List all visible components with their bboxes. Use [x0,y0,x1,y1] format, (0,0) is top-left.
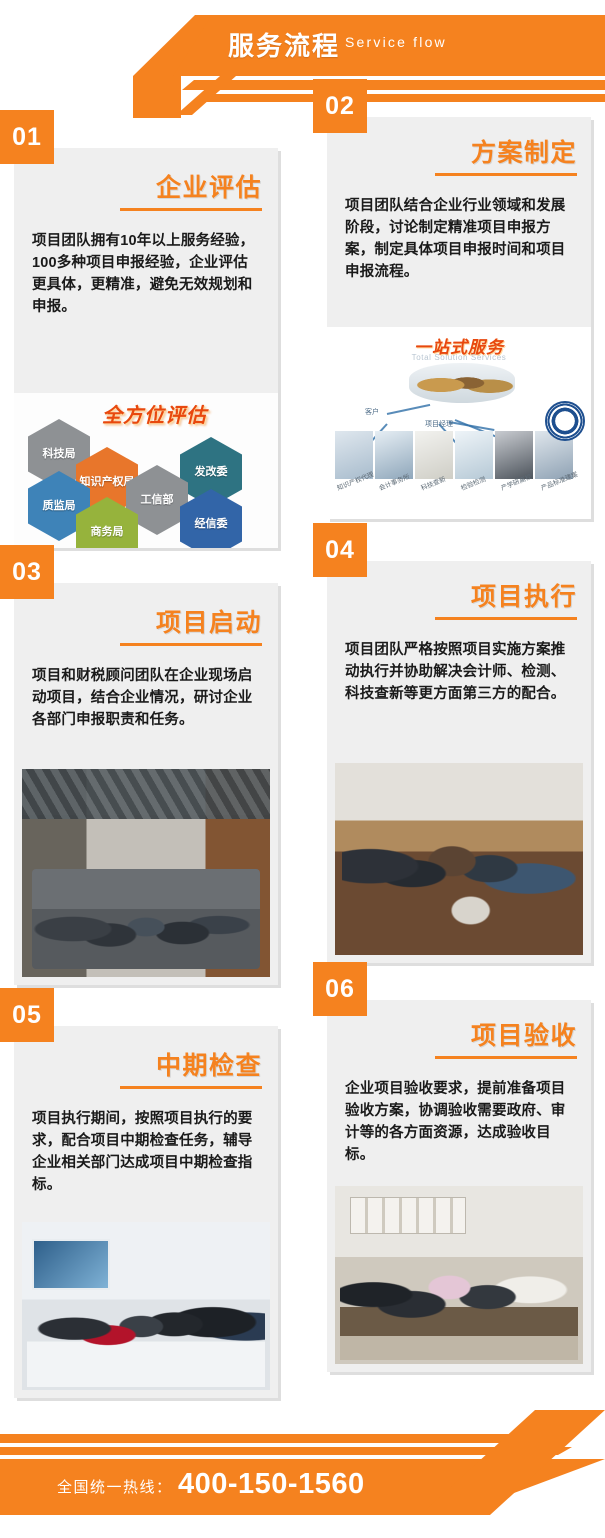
header-stripe-upper [182,80,605,90]
step-number-badge: 03 [0,545,54,599]
step-description: 项目执行期间，按照项目执行的要求，配合项目中期检查任务，辅导企业相关部门达成项目… [32,1108,260,1196]
title-underline [435,173,577,176]
diagram-tile [455,431,493,479]
header-stripe-lower [196,94,605,102]
step-photo [22,1222,270,1390]
step-title: 项目执行 [471,577,577,613]
page-footer: 全国统一热线： 400-150-1560 [0,1418,605,1538]
step-card-03[interactable]: 03 项目启动 项目和财税顾问团队在企业现场启动项目，结合企业情况，研讨企业各部… [14,583,278,985]
step-description: 企业项目验收要求，提前准备项目验收方案，协调验收需要政府、审计等的各方面资源，达… [345,1078,577,1166]
diagram-tile [415,431,453,479]
step-title: 项目启动 [156,603,262,639]
step-number-badge: 06 [313,962,367,1016]
title-underline [435,617,577,620]
step-card-01[interactable]: 01 企业评估 项目团队拥有10年以上服务经验，100多种项目申报经验，企业评估… [14,148,278,548]
step-title: 项目验收 [471,1016,577,1052]
iso-seal-icon [545,401,585,441]
title-underline [120,1086,262,1089]
title-underline [120,208,262,211]
hexagon-diagram: 全方位评估 科技局 知识产权局 发改委 质监局 工信部 商务局 经信委 [14,393,278,548]
hex-node-jingxin: 经信委 [180,489,242,548]
diagram-node-pm: 项目经理 [425,419,453,429]
diagram-subtitle: Total Solution Services [412,353,507,362]
step-number-badge: 04 [313,523,367,577]
step-card-04[interactable]: 04 项目执行 项目团队严格按照项目实施方案推动执行并协助解决会计师、检测、科技… [327,561,591,963]
step-description: 项目团队结合企业行业领域和发展阶段，讨论制定精准项目申报方案，制定具体项目申报时… [345,195,577,283]
step-photo [335,1186,583,1364]
step-number-badge: 05 [0,988,54,1042]
step-title: 方案制定 [471,133,577,169]
hexagon-diagram-title: 全方位评估 [102,399,207,428]
step-number-badge: 02 [313,79,367,133]
diagram-arrow [387,404,430,415]
diagram-node-kehu: 客户 [365,407,379,417]
step-card-06[interactable]: 06 项目验收 企业项目验收要求，提前准备项目验收方案，协调验收需要政府、审计等… [327,1000,591,1372]
title-underline [435,1056,577,1059]
step-card-02[interactable]: 02 方案制定 项目团队结合企业行业领域和发展阶段，讨论制定精准项目申报方案，制… [327,117,591,519]
step-title: 企业评估 [156,168,262,204]
hotline-label: 全国统一热线： [57,1476,173,1497]
hotline-number[interactable]: 400-150-1560 [178,1468,365,1501]
step-number-badge: 01 [0,110,54,164]
step-title: 中期检查 [156,1046,262,1082]
diagram-hero-photo [409,363,515,403]
step-photo [22,769,270,977]
page-subtitle: Service flow [345,34,447,50]
title-underline [120,643,262,646]
page-title: 服务流程 [228,26,340,63]
step-photo [335,763,583,955]
step-card-05[interactable]: 05 中期检查 项目执行期间，按照项目执行的要求，配合项目中期检查任务，辅导企业… [14,1026,278,1398]
step-description: 项目团队严格按照项目实施方案推动执行并协助解决会计师、检测、科技查新等更方面第三… [345,639,577,705]
one-stop-service-diagram: 一站式服务 Total Solution Services 客户 项目经理 知识… [327,327,591,519]
page-header: 服务流程 Service flow [0,0,605,115]
step-description: 项目和财税顾问团队在企业现场启动项目，结合企业情况，研讨企业各部门申报职责和任务… [32,665,260,731]
step-description: 项目团队拥有10年以上服务经验，100多种项目申报经验，企业评估更具体，更精准，… [32,230,260,318]
